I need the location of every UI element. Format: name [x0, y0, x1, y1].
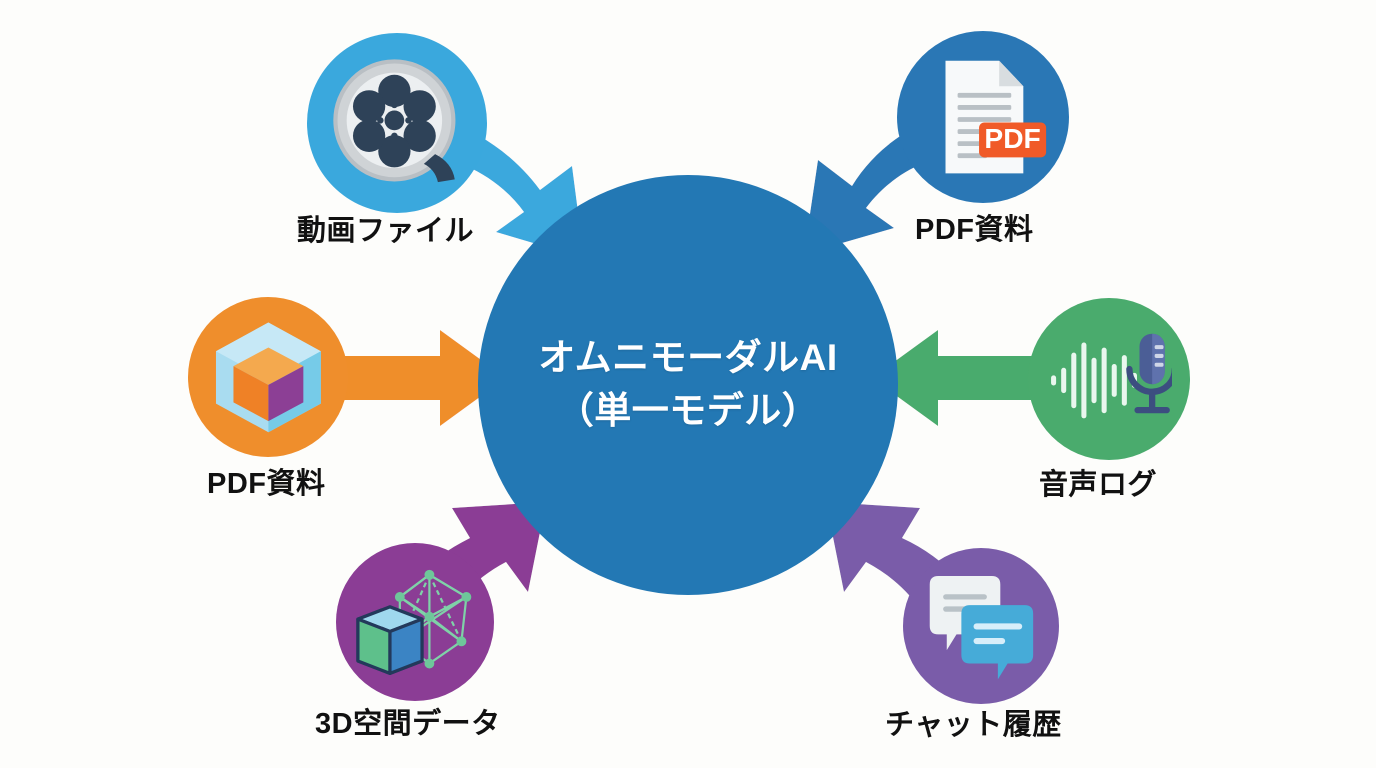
node-space3d[interactable] — [336, 543, 494, 701]
film-reel-icon — [327, 53, 467, 193]
hub-title-line-1: オムニモーダルAI — [538, 332, 837, 385]
label-video: 動画ファイル — [297, 207, 474, 249]
node-audio[interactable] — [1028, 298, 1190, 460]
arrow-audio-to-hub — [872, 330, 1048, 426]
omnimodal-ai-hub[interactable]: オムニモーダルAI （単一モデル） — [478, 175, 898, 595]
label-pdf-right: PDF資料 — [915, 206, 1034, 248]
cube-network-icon — [353, 560, 476, 683]
label-audio: 音声ログ — [1039, 461, 1157, 503]
label-pdf-left: PDF資料 — [207, 460, 326, 502]
pdf-document-icon: PDF — [916, 50, 1050, 184]
chat-bubbles-icon — [920, 565, 1042, 687]
pdf-badge-text: PDF — [984, 122, 1040, 154]
nested-cube-icon — [206, 315, 331, 440]
node-chat[interactable] — [903, 548, 1059, 704]
microphone-waveform-icon — [1046, 316, 1172, 442]
diagram-canvas: オムニモーダルAI （単一モデル） 動画ファイル — [0, 0, 1376, 768]
hub-title-line-2: （単一モデル） — [557, 385, 820, 438]
node-pdf-right[interactable]: PDF — [897, 31, 1069, 203]
label-space3d: 3D空間データ — [315, 700, 501, 742]
node-pdf-left[interactable] — [188, 297, 348, 457]
label-chat: チャット履歴 — [885, 701, 1062, 743]
node-video[interactable] — [307, 33, 487, 213]
